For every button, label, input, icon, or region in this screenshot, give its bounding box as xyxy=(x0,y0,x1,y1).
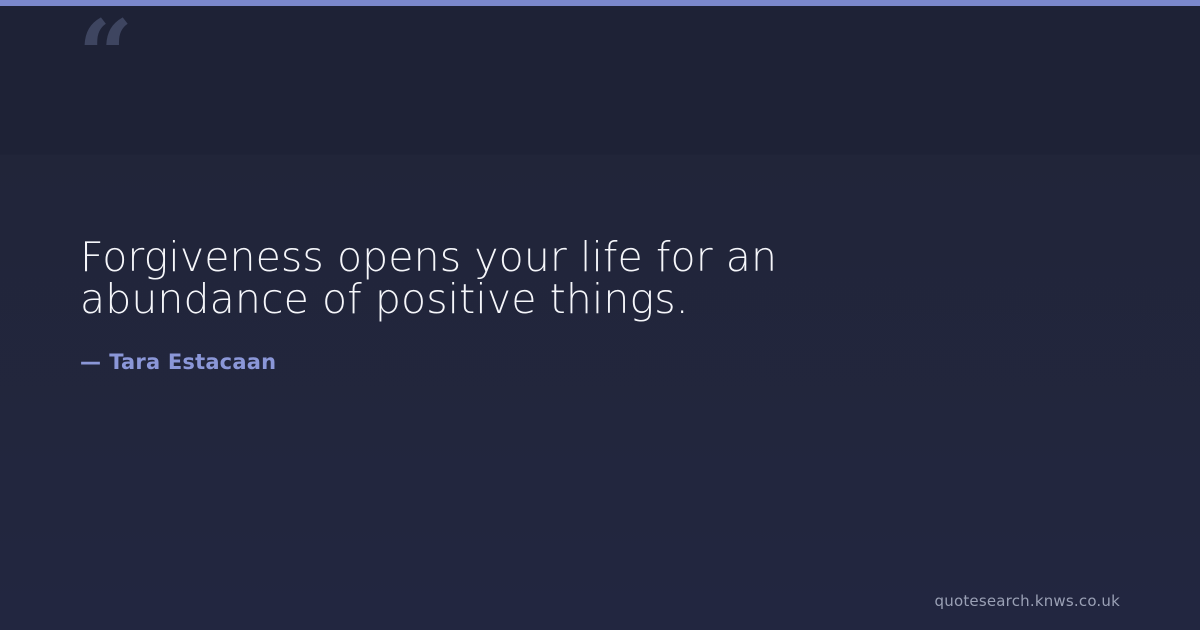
quote-content: Forgiveness opens your life for an abund… xyxy=(80,236,1080,374)
quote-card: “ Forgiveness opens your life for an abu… xyxy=(0,0,1200,630)
opening-quote-icon: “ xyxy=(78,8,131,104)
top-accent-bar xyxy=(0,0,1200,6)
author-name: Tara Estacaan xyxy=(109,350,276,374)
source-url: quotesearch.knws.co.uk xyxy=(935,592,1120,610)
quote-text: Forgiveness opens your life for an abund… xyxy=(80,236,1000,320)
attribution-dash: — xyxy=(80,350,101,374)
quote-attribution: —Tara Estacaan xyxy=(80,350,1080,374)
